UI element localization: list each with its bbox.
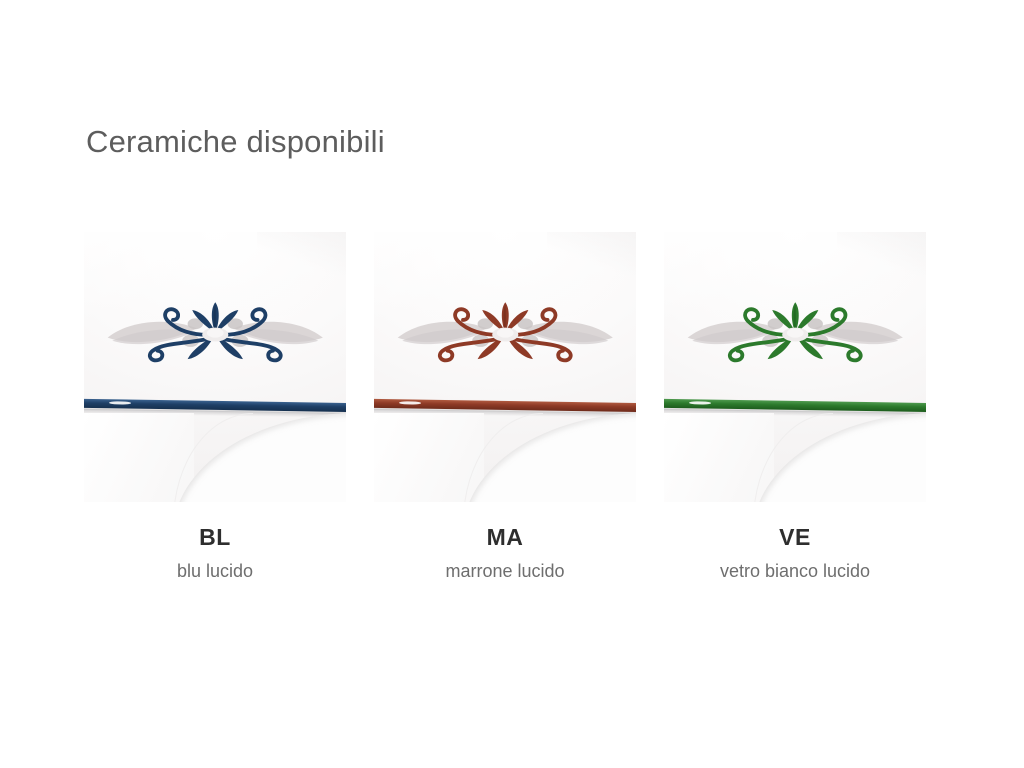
page-title: Ceramiche disponibili xyxy=(86,123,385,160)
swatch-item[interactable]: MA marrone lucido xyxy=(374,232,636,582)
swatch-code: MA xyxy=(374,524,636,551)
swatch-name: marrone lucido xyxy=(374,561,636,582)
swatch-code: BL xyxy=(84,524,346,551)
swatch-item[interactable]: BL blu lucido xyxy=(84,232,346,582)
floral-motif-icon xyxy=(100,291,331,372)
ceramic-photo xyxy=(374,232,636,502)
swatch-code: VE xyxy=(664,524,926,551)
swatch-name: blu lucido xyxy=(84,561,346,582)
floral-motif-icon xyxy=(680,291,911,372)
swatch-item[interactable]: VE vetro bianco lucido xyxy=(664,232,926,582)
ceramic-photo xyxy=(84,232,346,502)
swatch-name: vetro bianco lucido xyxy=(664,561,926,582)
swatch-row: BL blu lucido xyxy=(84,232,926,582)
slide-canvas: Ceramiche disponibili xyxy=(0,0,1024,768)
plate-lower-left xyxy=(374,413,484,502)
floral-motif-icon xyxy=(390,291,621,372)
plate-lower-left xyxy=(664,413,774,502)
plate-lower-left xyxy=(84,413,194,502)
ceramic-photo xyxy=(664,232,926,502)
